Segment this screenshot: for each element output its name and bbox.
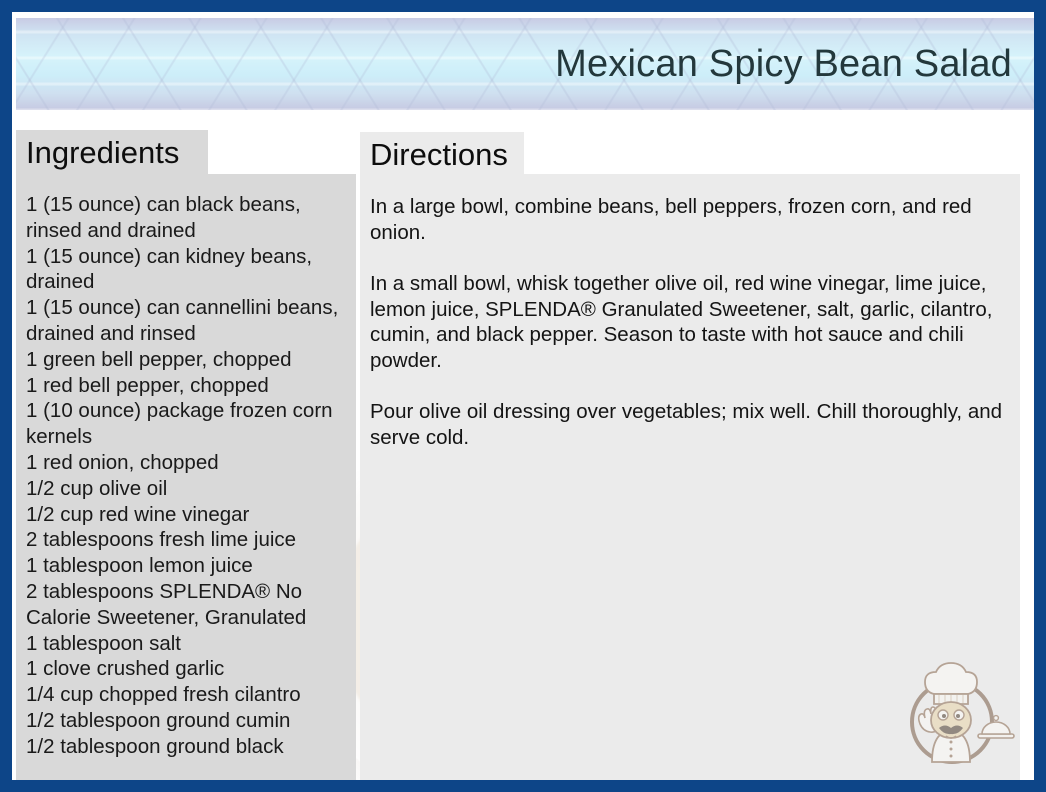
chef-hat-icon xyxy=(925,663,977,704)
ingredient-item: 2 tablespoons SPLENDA® No Calorie Sweete… xyxy=(26,579,348,631)
ingredient-item: 1 (15 ounce) can black beans, rinsed and… xyxy=(26,192,348,244)
ingredient-item: 1 (10 ounce) package frozen corn kernels xyxy=(26,398,348,450)
ingredient-item: 1/4 cup chopped fresh cilantro xyxy=(26,682,348,708)
card-inner-frame: Mexican Spicy Bean Salad Ingredients 1 (… xyxy=(12,12,1034,780)
ingredient-item: 1/2 tablespoon ground cumin xyxy=(26,708,348,734)
ingredient-item: 1 red onion, chopped xyxy=(26,450,348,476)
ingredient-item: 1 (15 ounce) can kidney beans, drained xyxy=(26,244,348,296)
chef-face xyxy=(931,702,971,738)
ingredient-item: 1 red bell pepper, chopped xyxy=(26,373,348,399)
page-title: Mexican Spicy Bean Salad xyxy=(555,43,1012,86)
direction-paragraph: Pour olive oil dressing over vegetables;… xyxy=(370,399,1006,450)
ingredient-item: 1 (15 ounce) can cannellini beans, drain… xyxy=(26,295,348,347)
ingredient-item: 2 tablespoons fresh lime juice xyxy=(26,527,348,553)
header-banner: Mexican Spicy Bean Salad xyxy=(16,18,1034,110)
cloche-platter-icon xyxy=(978,716,1014,738)
directions-text: In a large bowl, combine beans, bell pep… xyxy=(370,194,1006,450)
ingredient-item: 1/2 tablespoon ground black xyxy=(26,734,348,760)
ingredients-panel: 1 (15 ounce) can black beans, rinsed and… xyxy=(16,174,356,780)
direction-paragraph: In a small bowl, whisk together olive oi… xyxy=(370,271,1006,373)
ingredient-item: 1/2 cup red wine vinegar xyxy=(26,502,348,528)
recipe-card: Mexican Spicy Bean Salad Ingredients 1 (… xyxy=(0,0,1046,792)
ingredients-heading-tab: Ingredients xyxy=(16,130,208,174)
ingredients-heading-label: Ingredients xyxy=(26,137,179,168)
directions-heading-label: Directions xyxy=(370,139,508,170)
ingredient-item: 1/2 cup olive oil xyxy=(26,476,348,502)
ingredient-item: 1 clove crushed garlic xyxy=(26,656,348,682)
directions-heading-tab: Directions xyxy=(360,132,524,176)
direction-paragraph: In a large bowl, combine beans, bell pep… xyxy=(370,194,1006,245)
ingredients-list: 1 (15 ounce) can black beans, rinsed and… xyxy=(26,192,348,760)
ingredient-item: 1 tablespoon salt xyxy=(26,631,348,657)
ingredient-item: 1 green bell pepper, chopped xyxy=(26,347,348,373)
ingredient-item: 1 tablespoon lemon juice xyxy=(26,553,348,579)
chef-mascot-logo xyxy=(894,650,1016,772)
